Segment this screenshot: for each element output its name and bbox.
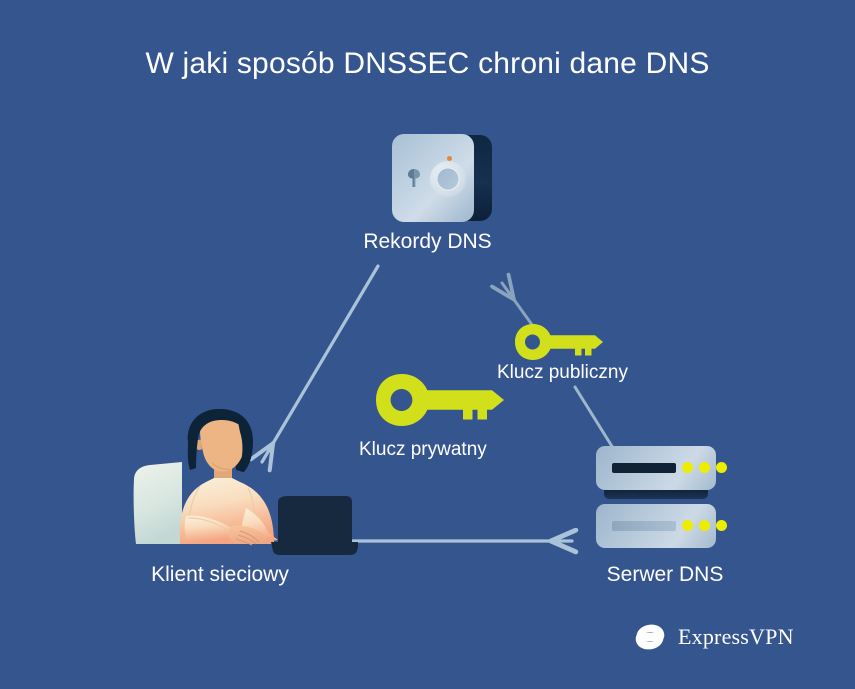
server-led bbox=[699, 520, 710, 531]
expressvpn-wordmark: ExpressVPN bbox=[678, 624, 794, 650]
key-icon-public bbox=[513, 322, 605, 362]
chair bbox=[134, 462, 182, 544]
server-led bbox=[699, 462, 710, 473]
vault-dial bbox=[430, 161, 466, 197]
node-label-records: Rekordy DNS bbox=[0, 230, 855, 254]
laptop-base bbox=[271, 542, 358, 555]
node-label-server: Serwer DNS bbox=[520, 563, 810, 587]
server-slot-bar bbox=[612, 521, 676, 531]
server-rack-shadow bbox=[604, 490, 708, 499]
expressvpn-logo-mark-icon bbox=[632, 619, 668, 655]
vault-dial-marker bbox=[447, 156, 452, 161]
server-rack-unit-bottom bbox=[596, 504, 716, 548]
infographic-canvas: W jaki sposób DNSSEC chroni dane DNS bbox=[0, 0, 855, 689]
person-laptop-icon bbox=[128, 408, 358, 556]
vault-door bbox=[392, 134, 474, 222]
server-led bbox=[716, 462, 727, 473]
server-rack-icon bbox=[596, 446, 716, 550]
node-label-client: Klient sieciowy bbox=[60, 563, 380, 587]
expressvpn-logo: ExpressVPN bbox=[632, 617, 792, 657]
vault-dial-center bbox=[436, 167, 460, 191]
server-rack-unit-top bbox=[596, 446, 716, 490]
laptop-screen bbox=[278, 496, 352, 542]
server-led bbox=[716, 520, 727, 531]
key-label-public: Klucz publiczny bbox=[497, 362, 628, 384]
key-label-private: Klucz prywatny bbox=[359, 439, 487, 461]
vault-icon bbox=[392, 134, 492, 222]
page-title: W jaki sposób DNSSEC chroni dane DNS bbox=[0, 46, 855, 82]
server-led bbox=[682, 462, 693, 473]
vault-handle-icon bbox=[406, 167, 422, 189]
server-led bbox=[682, 520, 693, 531]
server-slot-bar bbox=[612, 463, 676, 473]
key-icon-private bbox=[373, 371, 507, 429]
